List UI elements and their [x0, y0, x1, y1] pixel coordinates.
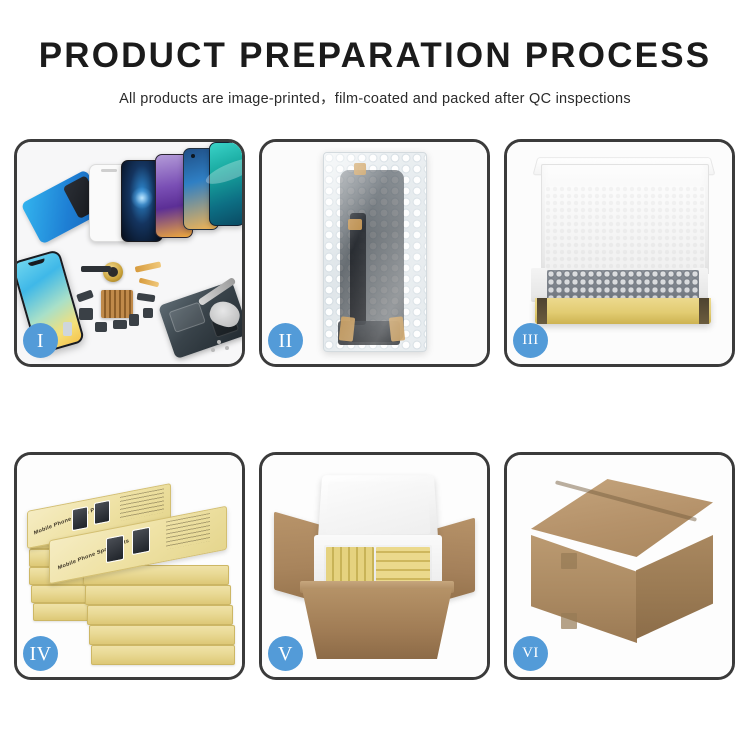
step-badge-4: IV	[23, 636, 58, 671]
sealed-carton-right-face	[636, 535, 713, 639]
tape-strip-middle	[348, 219, 362, 230]
logic-board-chip	[101, 290, 133, 318]
retail-box-stack: Mobile Phone Spare Parts Mobile Phone Sp…	[23, 469, 237, 665]
box-thumb-back-b	[94, 500, 110, 525]
sim-tray-part	[143, 308, 153, 318]
small-component-b	[79, 308, 93, 320]
process-step-panel-3[interactable]: III	[504, 139, 735, 367]
phone-display-teal	[209, 142, 242, 226]
process-step-grid: I II III	[14, 139, 736, 679]
step-badge-2: II	[268, 323, 303, 358]
process-step-panel-6[interactable]: VI	[504, 452, 735, 680]
small-component-c	[95, 322, 107, 332]
small-component-f	[137, 293, 156, 302]
white-foam-lining	[545, 186, 705, 270]
box-rim-left	[531, 268, 547, 302]
box-thumb-front-b	[132, 527, 150, 555]
box-thumb-back-a	[72, 506, 88, 531]
stacked-box-r3	[87, 605, 233, 625]
tape-strip-bottom-left	[338, 316, 354, 341]
foam-lid	[318, 475, 439, 541]
sim-card-part	[63, 322, 72, 336]
small-component-d	[113, 320, 127, 329]
small-component-a	[76, 290, 94, 303]
page-subtitle: All products are image-printed，film-coat…	[0, 87, 750, 108]
kraft-box-front-panel	[535, 298, 711, 324]
flex-cable-part-b	[139, 278, 160, 288]
page-title: PRODUCT PREPARATION PROCESS	[0, 38, 750, 75]
tape-strip-bottom-right	[388, 316, 404, 341]
process-step-panel-1[interactable]: I	[14, 139, 245, 367]
page-header: PRODUCT PREPARATION PROCESS All products…	[0, 0, 750, 108]
bubble-wrap-package	[323, 152, 427, 352]
step-badge-3: III	[513, 323, 548, 358]
carton-tape-lower	[561, 613, 577, 629]
box-spec-lines-back	[120, 488, 164, 521]
small-component-e	[129, 314, 139, 326]
box-thumb-front-a	[106, 535, 124, 563]
bubble-wrapped-contents	[547, 270, 699, 300]
screw-c	[211, 348, 215, 352]
flex-cable-part-a	[135, 261, 162, 272]
step-badge-5: V	[268, 636, 303, 671]
stacked-box-r2	[85, 585, 231, 605]
stacked-box-r5	[91, 645, 235, 665]
stacked-box-r4	[89, 625, 235, 645]
screw-b	[225, 346, 229, 350]
speaker-coil-part	[103, 262, 123, 282]
step-badge-6: VI	[513, 636, 548, 671]
step-badge-1: I	[23, 323, 58, 358]
tape-strip-top	[354, 163, 366, 175]
carton-tape-upper	[561, 553, 577, 569]
battery-strip-part	[81, 266, 111, 272]
carton-body	[302, 589, 452, 659]
box-spec-lines-front	[166, 513, 210, 550]
screw-a	[217, 340, 221, 344]
process-step-panel-5[interactable]: V	[259, 452, 490, 680]
process-step-panel-4[interactable]: Mobile Phone Spare Parts Mobile Phone Sp…	[14, 452, 245, 680]
process-step-panel-2[interactable]: II	[259, 139, 490, 367]
